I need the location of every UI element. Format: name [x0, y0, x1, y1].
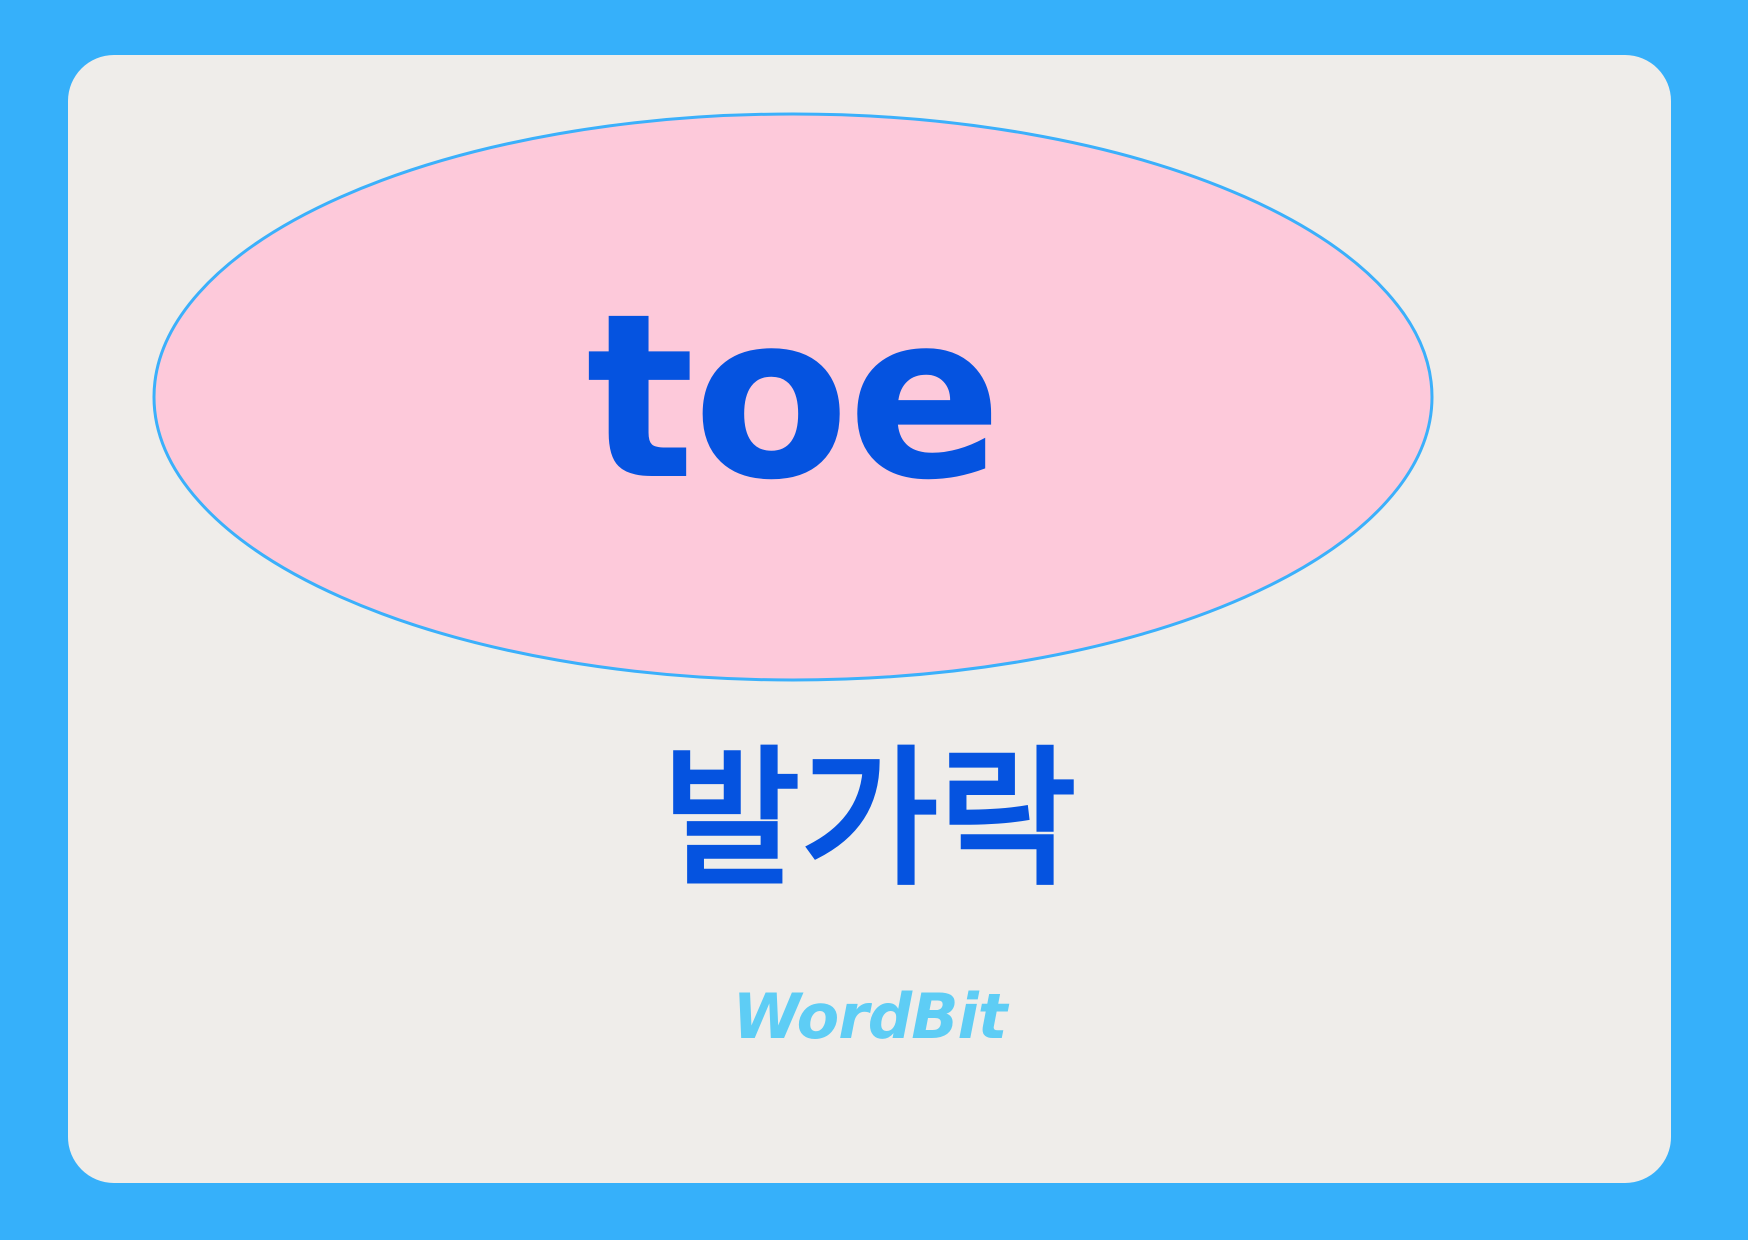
flashcard-card[interactable]: toe 발가락 WordBit [68, 55, 1671, 1183]
word-translation: 발가락 [68, 727, 1671, 915]
word-term: toe [152, 112, 1434, 682]
brand-logo-text[interactable]: WordBit [68, 980, 1671, 1053]
flashcard-screen: toe 발가락 WordBit [0, 0, 1748, 1240]
